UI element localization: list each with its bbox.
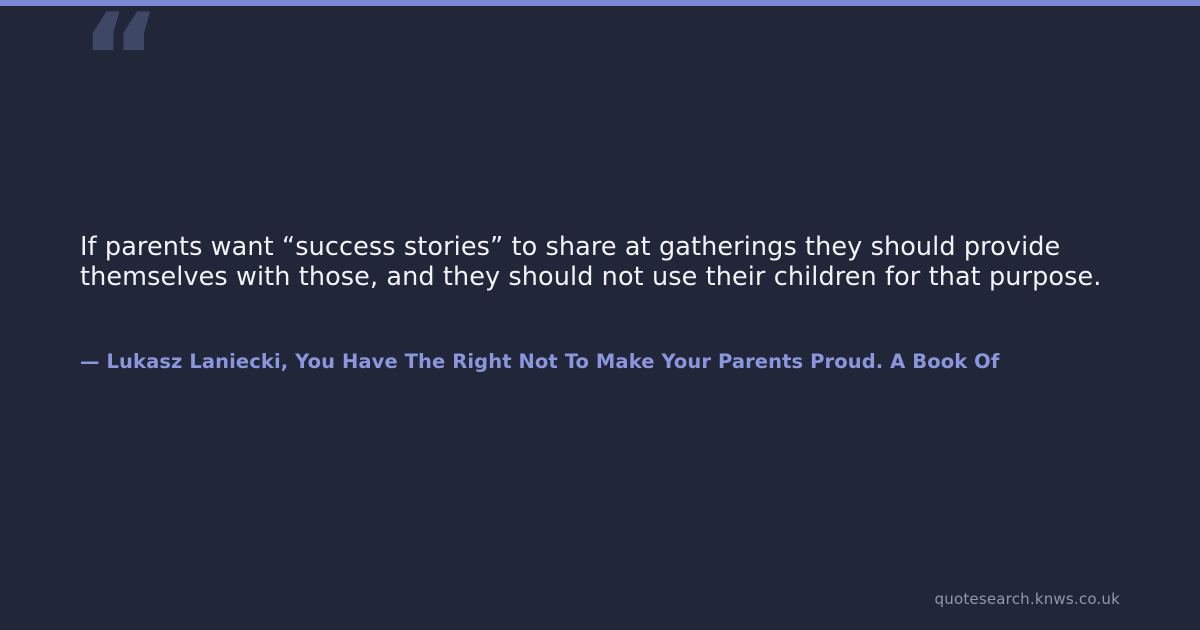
site-watermark: quotesearch.knws.co.uk <box>935 590 1120 608</box>
quote-card: “ If parents want “success stories” to s… <box>0 0 1200 630</box>
quote-attribution: — Lukasz Laniecki, You Have The Right No… <box>80 348 1200 376</box>
top-accent-bar <box>0 0 1200 6</box>
open-quote-icon: “ <box>80 0 160 122</box>
attribution-container: — Lukasz Laniecki, You Have The Right No… <box>80 348 1200 378</box>
quote-text: If parents want “success stories” to sha… <box>80 232 1110 292</box>
